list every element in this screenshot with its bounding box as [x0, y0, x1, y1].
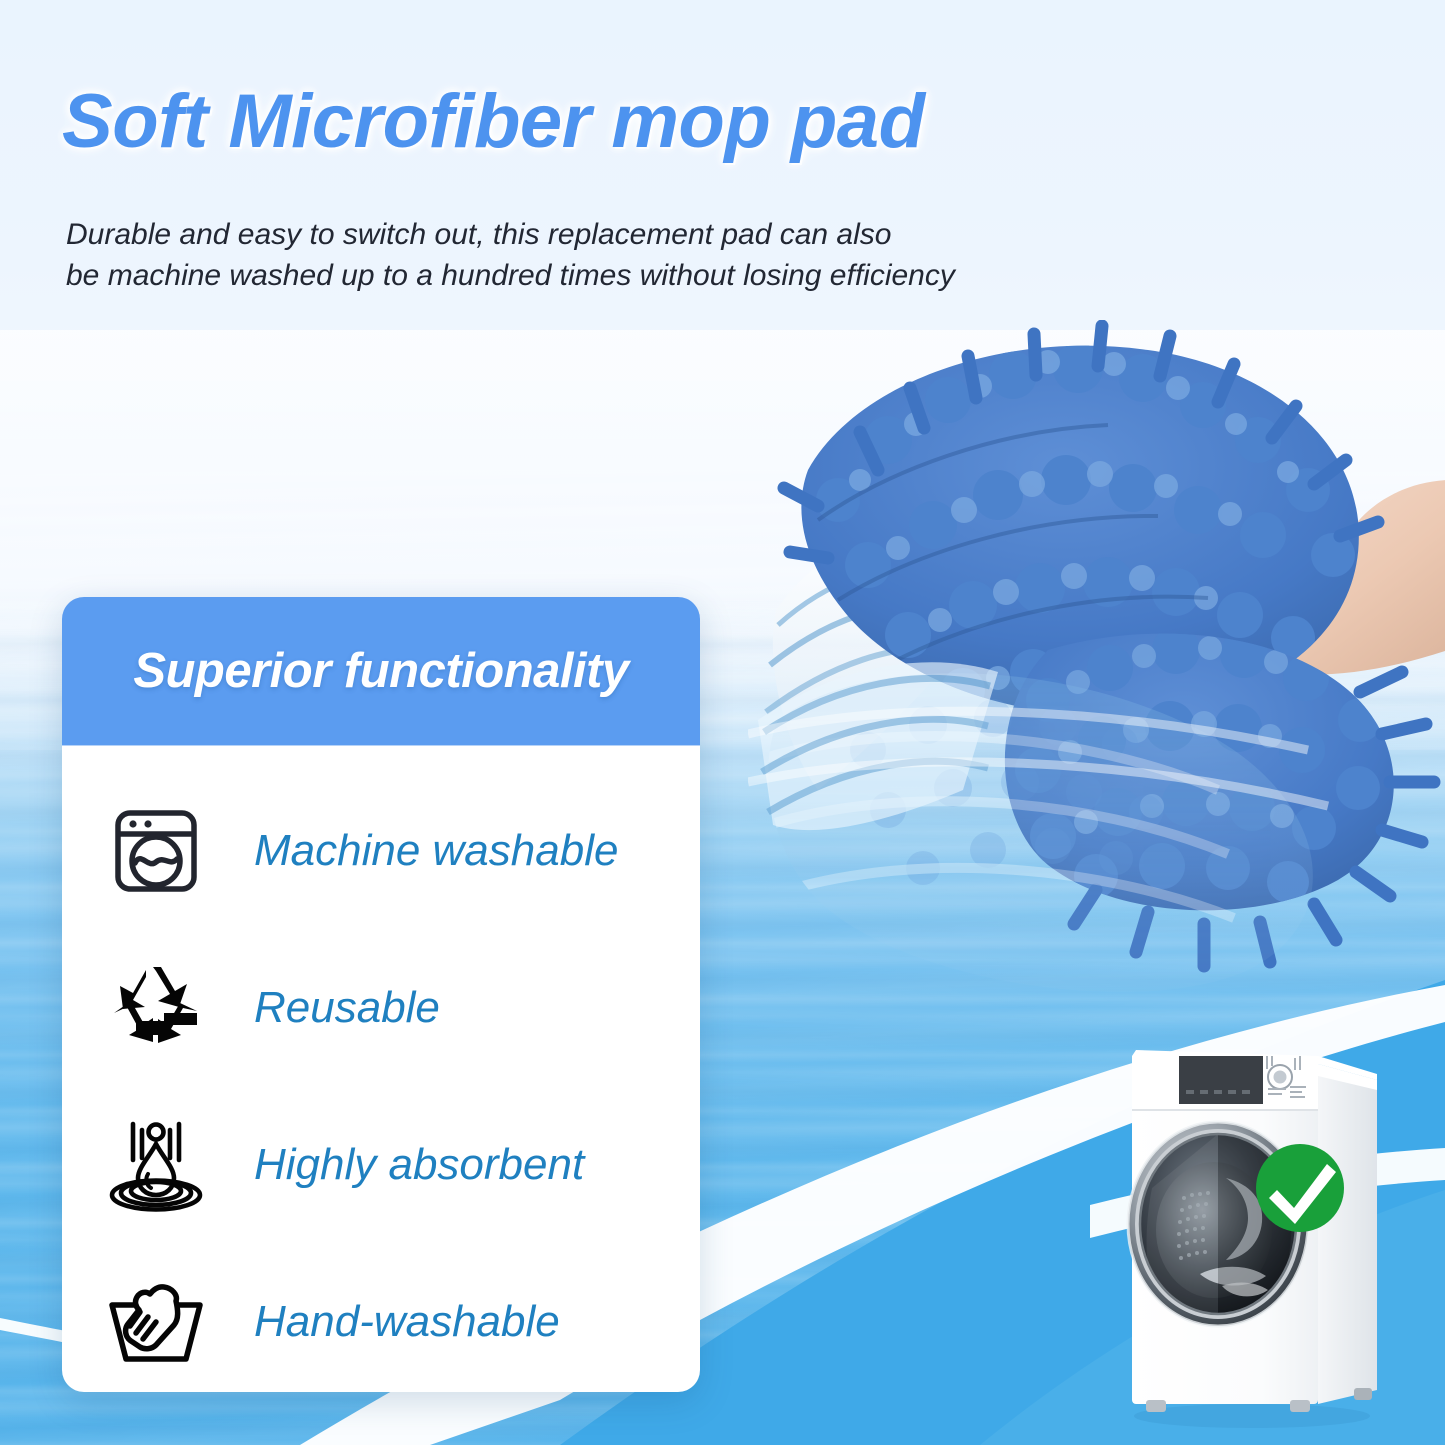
- washing-machine-icon: [98, 799, 214, 903]
- feature-label-hand-washable: Hand-washable: [254, 1297, 560, 1347]
- card-header: Superior functionality: [62, 597, 700, 746]
- hand-wash-icon: [98, 1270, 214, 1374]
- page-subtitle: Durable and easy to switch out, this rep…: [66, 215, 955, 296]
- feature-list: Machine washable Reusable: [62, 746, 700, 1392]
- superior-functionality-card: Superior functionality Machine washable: [62, 597, 700, 1392]
- washing-machine-photo: [1122, 1038, 1392, 1428]
- product-photo-mop-pad: [748, 320, 1445, 1010]
- card-header-title: Superior functionality: [133, 643, 628, 699]
- feature-row-reusable: Reusable: [62, 929, 700, 1086]
- green-check-badge: [1256, 1144, 1344, 1232]
- recycle-icon: [98, 956, 214, 1060]
- page-title: Soft Microfiber mop pad: [62, 78, 925, 165]
- feature-label-machine-washable: Machine washable: [254, 826, 618, 876]
- feature-label-highly-absorbent: Highly absorbent: [254, 1140, 584, 1190]
- feature-label-reusable: Reusable: [254, 983, 440, 1033]
- water-drop-icon: [98, 1113, 214, 1217]
- feature-row-machine-washable: Machine washable: [62, 772, 700, 929]
- feature-row-highly-absorbent: Highly absorbent: [62, 1086, 700, 1243]
- product-infographic: Soft Microfiber mop pad Durable and easy…: [0, 0, 1445, 1445]
- feature-row-hand-washable: Hand-washable: [62, 1243, 700, 1392]
